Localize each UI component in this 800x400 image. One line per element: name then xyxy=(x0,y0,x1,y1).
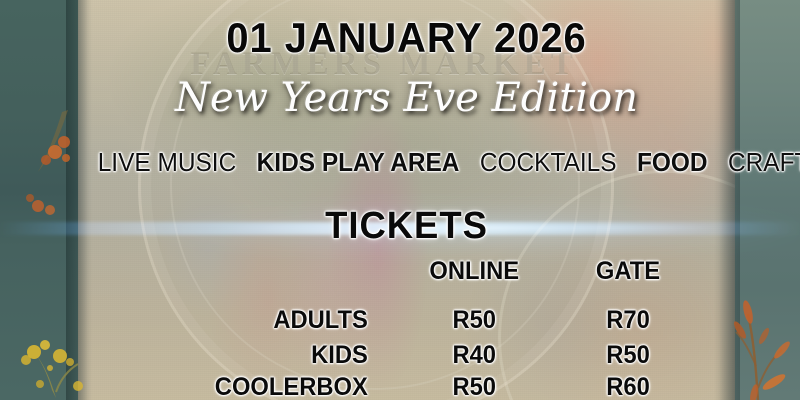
ticket-header-online: ONLINE xyxy=(396,253,552,289)
activity-live-music: LIVE MUSIC xyxy=(98,147,237,177)
activities-line: LIVE MUSIC KIDS PLAY AREA COCKTAILS FOOD… xyxy=(98,147,716,178)
activity-sep-3 xyxy=(623,147,630,177)
event-poster: FARMERS MARKET xyxy=(0,0,800,400)
activity-sep-2 xyxy=(466,147,473,177)
table-row: KIDS R40 R50 xyxy=(130,339,700,371)
ticket-price-kids-online: R40 xyxy=(396,339,552,371)
ticket-price-adults-gate: R70 xyxy=(560,289,697,339)
activity-sep-1 xyxy=(243,147,250,177)
table-row: COOLERBOX R50 R60 xyxy=(130,371,700,400)
table-row: ADULTS R50 R70 xyxy=(130,289,700,339)
ticket-price-table: ONLINE GATE ADULTS R50 R70 KIDS R40 R50 … xyxy=(130,253,700,400)
ticket-price-kids-gate: R50 xyxy=(560,339,697,371)
ticket-row-label-kids: KIDS xyxy=(137,339,385,371)
ticket-price-coolerbox-online: R50 xyxy=(396,371,552,400)
edition-subtitle: New Years Eve Edition xyxy=(78,75,735,121)
ticket-row-label-coolerbox: COOLERBOX xyxy=(137,371,385,400)
activity-kids-play-area: KIDS PLAY AREA xyxy=(257,147,460,177)
activity-cocktails: COCKTAILS xyxy=(480,147,617,177)
activity-crafts: CRAFTS xyxy=(728,147,800,177)
ticket-table-header-row: ONLINE GATE xyxy=(130,253,700,289)
ticket-row-label-adults: ADULTS xyxy=(137,289,385,339)
ticket-header-gate: GATE xyxy=(560,253,697,289)
tickets-heading: TICKETS xyxy=(91,205,722,248)
activity-sep-4 xyxy=(714,147,721,177)
activity-food: FOOD xyxy=(637,147,708,177)
ticket-header-blank xyxy=(137,253,385,289)
ticket-price-coolerbox-gate: R60 xyxy=(560,371,697,400)
event-date-headline: 01 JANUARY 2026 xyxy=(94,14,718,62)
ticket-price-adults-online: R50 xyxy=(396,289,552,339)
